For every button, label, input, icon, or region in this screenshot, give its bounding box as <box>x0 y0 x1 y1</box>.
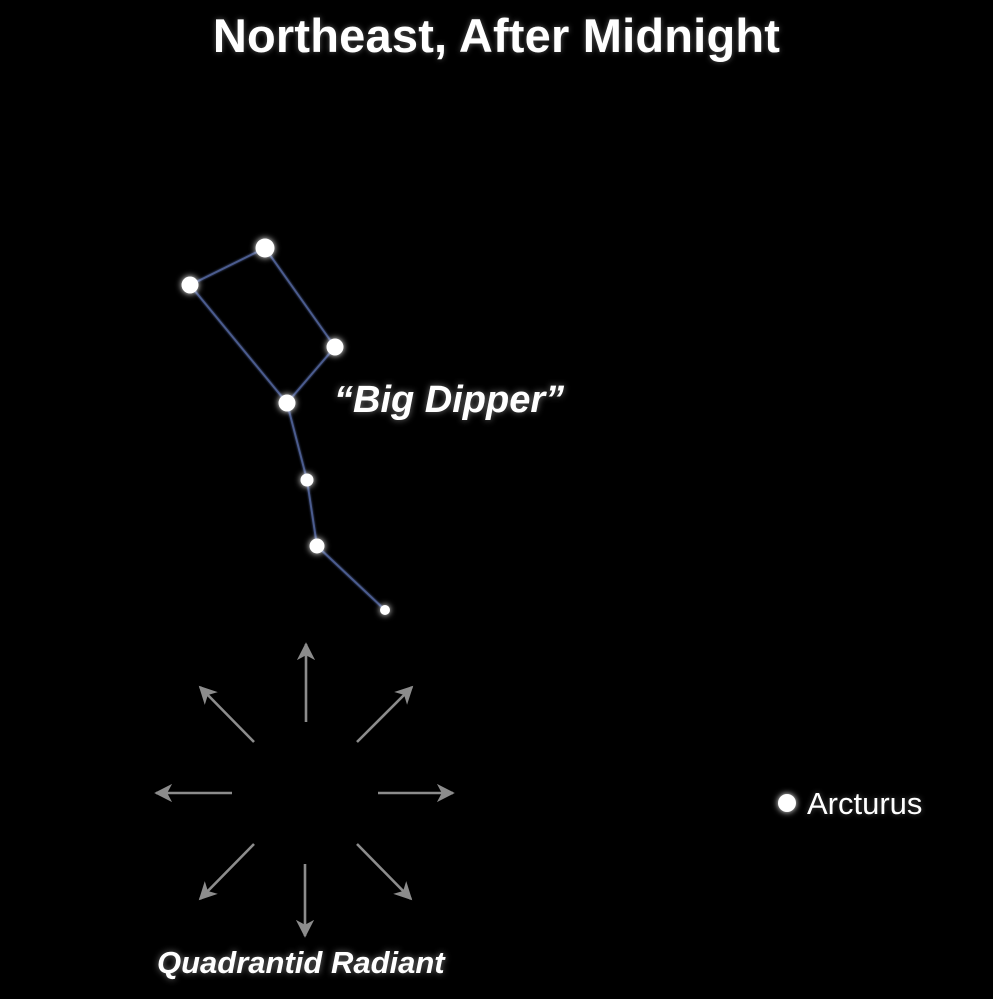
star-points-group <box>182 239 797 813</box>
arrow-se <box>357 844 411 899</box>
arrow-sw <box>200 844 254 899</box>
star-handle-end <box>380 605 390 615</box>
constellation-lines-group <box>190 248 385 610</box>
arrow-nw <box>200 687 254 742</box>
star-bowl-upper-left <box>182 277 199 294</box>
label-quadrantid-radiant: Quadrantid Radiant <box>157 945 445 981</box>
sky-chart: Northeast, After Midnight “Big Dipper” Q… <box>0 0 993 999</box>
star-handle-2 <box>310 539 325 554</box>
star-bowl-bottom <box>279 395 296 412</box>
star-chart-canvas <box>0 0 993 999</box>
label-arcturus: Arcturus <box>807 786 922 822</box>
star-bowl-right <box>327 339 344 356</box>
arrow-ne <box>357 687 412 742</box>
star-arcturus <box>778 794 796 812</box>
constellation-line-bowl-bottom-bowl-upper-left <box>190 285 287 403</box>
constellation-line-handle-1-handle-2 <box>307 480 317 546</box>
constellation-line-bowl-bottom-handle-1 <box>287 403 307 480</box>
label-big-dipper: “Big Dipper” <box>334 379 564 422</box>
radiant-arrows-group <box>156 644 453 936</box>
page-title: Northeast, After Midnight <box>0 8 993 63</box>
constellation-line-bowl-upper-left-bowl-top <box>190 248 265 285</box>
constellation-line-bowl-top-bowl-right <box>265 248 335 347</box>
star-handle-1 <box>301 474 314 487</box>
constellation-line-handle-2-handle-end <box>317 546 385 610</box>
star-bowl-top <box>256 239 275 258</box>
constellation-line-bowl-right-bowl-bottom <box>287 347 335 403</box>
